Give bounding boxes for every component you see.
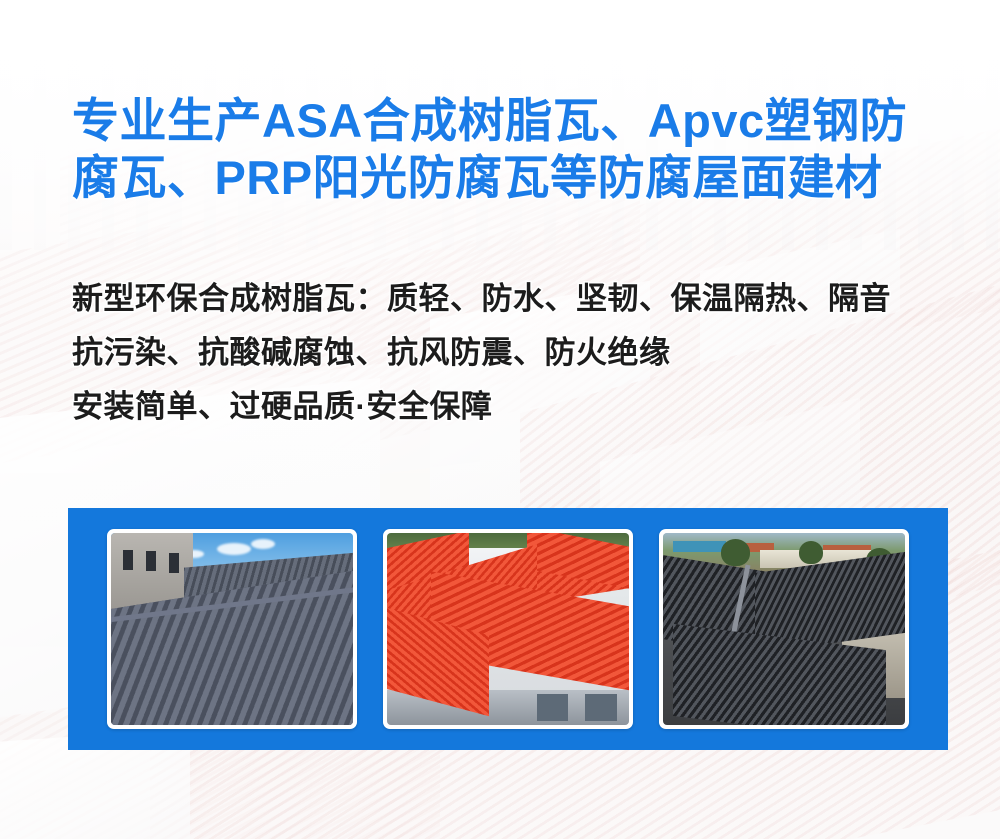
gallery-photo-red-resin-tile-roof[interactable]	[383, 529, 633, 729]
window	[169, 553, 180, 573]
photo-row	[68, 508, 948, 750]
feature-line-2: 抗污染、抗酸碱腐蚀、抗风防震、防火绝缘	[72, 326, 962, 380]
headline-line-1: 专业生产ASA合成树脂瓦、Apvc塑钢防	[72, 92, 958, 149]
cloud	[251, 539, 275, 549]
feature-line-1: 新型环保合成树脂瓦：质轻、防水、坚韧、保温隔热、隔音	[72, 272, 962, 326]
window	[146, 551, 157, 571]
window	[537, 694, 568, 721]
blue-shed-roof	[673, 541, 726, 553]
photo-red-tile-roof	[387, 533, 629, 725]
window	[123, 550, 134, 570]
headline-line-2: 腐瓦、PRP阳光防腐瓦等防腐屋面建材	[72, 149, 958, 206]
photo-grey-tile-roof	[111, 533, 353, 725]
window	[585, 694, 616, 721]
photo-gallery-panel	[68, 508, 948, 750]
feature-line-3: 安装简单、过硬品质·安全保障	[72, 380, 962, 434]
tree	[721, 539, 750, 566]
cloud	[217, 543, 251, 555]
product-banner: 专业生产ASA合成树脂瓦、Apvc塑钢防 腐瓦、PRP阳光防腐瓦等防腐屋面建材 …	[0, 0, 1000, 839]
photo-black-tile-roof	[663, 533, 905, 725]
headline: 专业生产ASA合成树脂瓦、Apvc塑钢防 腐瓦、PRP阳光防腐瓦等防腐屋面建材	[72, 92, 958, 206]
gallery-photo-grey-resin-tile-roof[interactable]	[107, 529, 357, 729]
feature-list: 新型环保合成树脂瓦：质轻、防水、坚韧、保温隔热、隔音 抗污染、抗酸碱腐蚀、抗风防…	[72, 272, 962, 434]
gallery-photo-black-resin-tile-roof[interactable]	[659, 529, 909, 729]
tree	[799, 541, 823, 564]
